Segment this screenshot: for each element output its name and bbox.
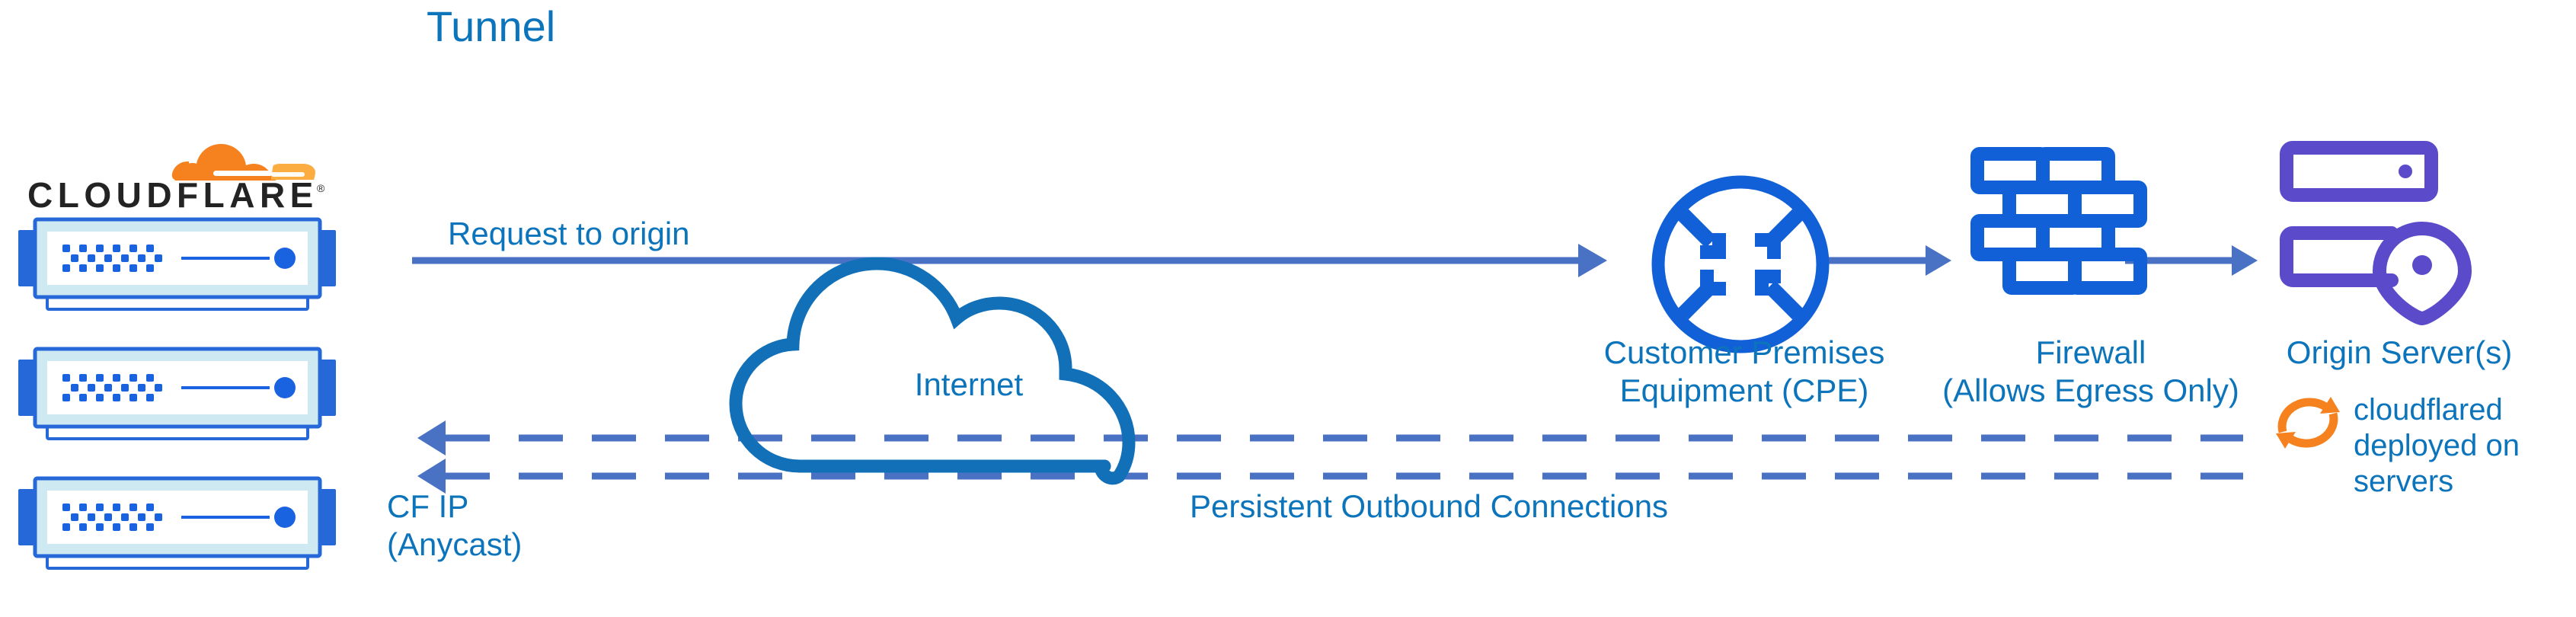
cpe-label-line2: Equipment (CPE) xyxy=(1620,372,1869,408)
arrow-in-top-left xyxy=(1678,209,1726,259)
firewall-label-line1: Firewall xyxy=(2036,334,2146,370)
location-pin xyxy=(2379,229,2465,318)
arrow-out-top-right xyxy=(1755,209,1803,259)
cloudflared-label: cloudflareddeployed onservers xyxy=(2354,392,2559,500)
svg-text:®: ® xyxy=(317,182,325,194)
cpe-to-firewall-arrow xyxy=(1819,245,1951,276)
edge-server-3 xyxy=(8,471,347,574)
cpe-label-line1: Customer Premises xyxy=(1604,334,1885,370)
cloudflare-logo: CLOUDFLARE ® xyxy=(12,107,332,213)
outbound-connection-arrow-upper xyxy=(417,420,2243,456)
svg-text:CLOUDFLARE: CLOUDFLARE xyxy=(27,175,318,213)
cf-ip-label-line1: CF IP xyxy=(387,488,468,524)
firewall-label-line2: (Allows Egress Only) xyxy=(1942,372,2239,408)
page-title: Tunnel xyxy=(427,2,555,52)
server-status-led xyxy=(274,248,296,269)
origin-server-label: Origin Server(s) xyxy=(2224,334,2574,372)
arrow-out-bottom-left xyxy=(1678,270,1726,319)
cf-ip-label-line2: (Anycast) xyxy=(387,526,522,562)
cloudflared-label-line2: deployed on xyxy=(2354,429,2520,462)
internet-label: Internet xyxy=(847,366,1091,404)
expand-collapse-arrows-circle-icon xyxy=(1645,169,1836,360)
sync-arrows-icon xyxy=(2270,385,2346,461)
cf-ip-anycast-label: CF IP(Anycast) xyxy=(387,488,522,563)
cloudflared-label-line1: cloudflared xyxy=(2354,393,2503,427)
server-status-led xyxy=(274,507,296,528)
edge-server-2 xyxy=(8,341,347,444)
edge-server-1 xyxy=(8,212,347,315)
server-rack-location-pin-icon xyxy=(2277,139,2491,329)
server-status-led xyxy=(274,377,296,398)
request-to-origin-label: Request to origin xyxy=(448,215,690,253)
cloudflared-label-line3: servers xyxy=(2354,465,2453,498)
cloudflare-wordmark: CLOUDFLARE ® xyxy=(27,175,325,213)
persistent-outbound-connections-label: Persistent Outbound Connections xyxy=(1190,488,1668,526)
cloud-icon xyxy=(716,229,1173,488)
tunnel-architecture-diagram: Tunnel CLOUDFLARE ® xyxy=(0,0,2576,617)
arrow-in-bottom-right xyxy=(1755,270,1803,319)
rack-led-upper xyxy=(2399,165,2412,178)
brick-wall-icon xyxy=(1970,146,2157,329)
